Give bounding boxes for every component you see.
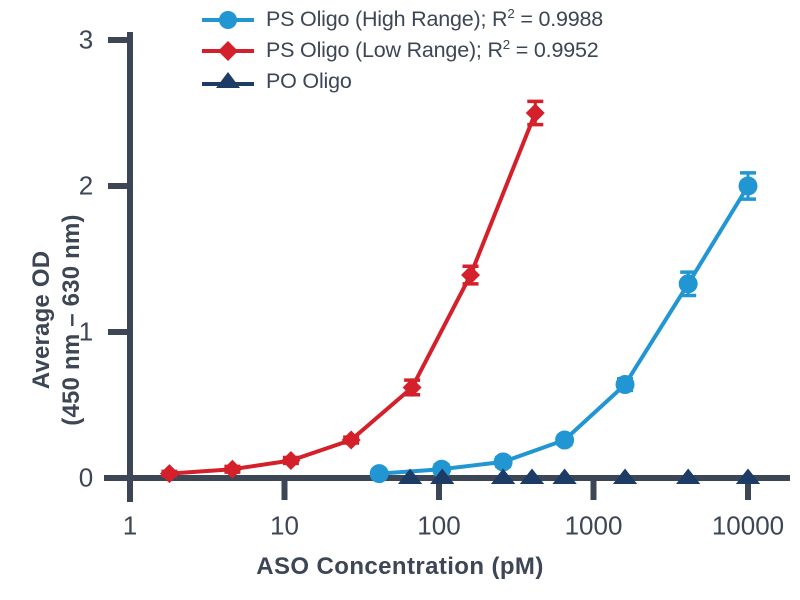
x-axis-title: ASO Concentration (pM) [0, 553, 800, 581]
legend-key-triangle-icon [200, 69, 256, 95]
data-point-marker [370, 464, 389, 483]
chart-figure: PS Oligo (High Range); R2 = 0.9988 PS Ol… [0, 0, 800, 600]
x-tick-label: 10000 [712, 511, 784, 542]
data-point-marker [679, 274, 698, 293]
data-point-marker [281, 451, 300, 470]
y-tick-label: 0 [79, 463, 93, 494]
x-tick-label: 1000 [565, 511, 623, 542]
x-tick-label: 100 [417, 511, 460, 542]
data-point-marker [739, 177, 758, 196]
x-tick-label: 1 [123, 511, 137, 542]
legend-label-high-range: PS Oligo (High Range); R2 = 0.9988 [266, 7, 603, 32]
y-tick-label: 3 [79, 25, 93, 56]
y-tick-label: 1 [79, 317, 93, 348]
series-line-0 [379, 186, 748, 474]
legend-label-po-oligo: PO Oligo [266, 69, 352, 94]
series-line-1 [169, 113, 535, 474]
y-axis-title-line1: Average OD [27, 120, 57, 520]
data-point-marker [616, 375, 635, 394]
legend-item-high-range: PS Oligo (High Range); R2 = 0.9988 [200, 4, 760, 35]
legend-item-po-oligo: PO Oligo [200, 66, 760, 97]
x-tick-label: 10 [270, 511, 299, 542]
legend-item-low-range: PS Oligo (Low Range); R2 = 0.9952 [200, 35, 760, 66]
data-point-marker [555, 431, 574, 450]
data-point-marker [526, 104, 545, 123]
y-tick-label: 2 [79, 171, 93, 202]
chart-legend: PS Oligo (High Range); R2 = 0.9988 PS Ol… [200, 4, 760, 97]
legend-key-circle-icon [200, 7, 256, 33]
legend-label-low-range: PS Oligo (Low Range); R2 = 0.9952 [266, 38, 598, 63]
data-point-marker [461, 266, 480, 285]
legend-key-diamond-icon [200, 38, 256, 64]
